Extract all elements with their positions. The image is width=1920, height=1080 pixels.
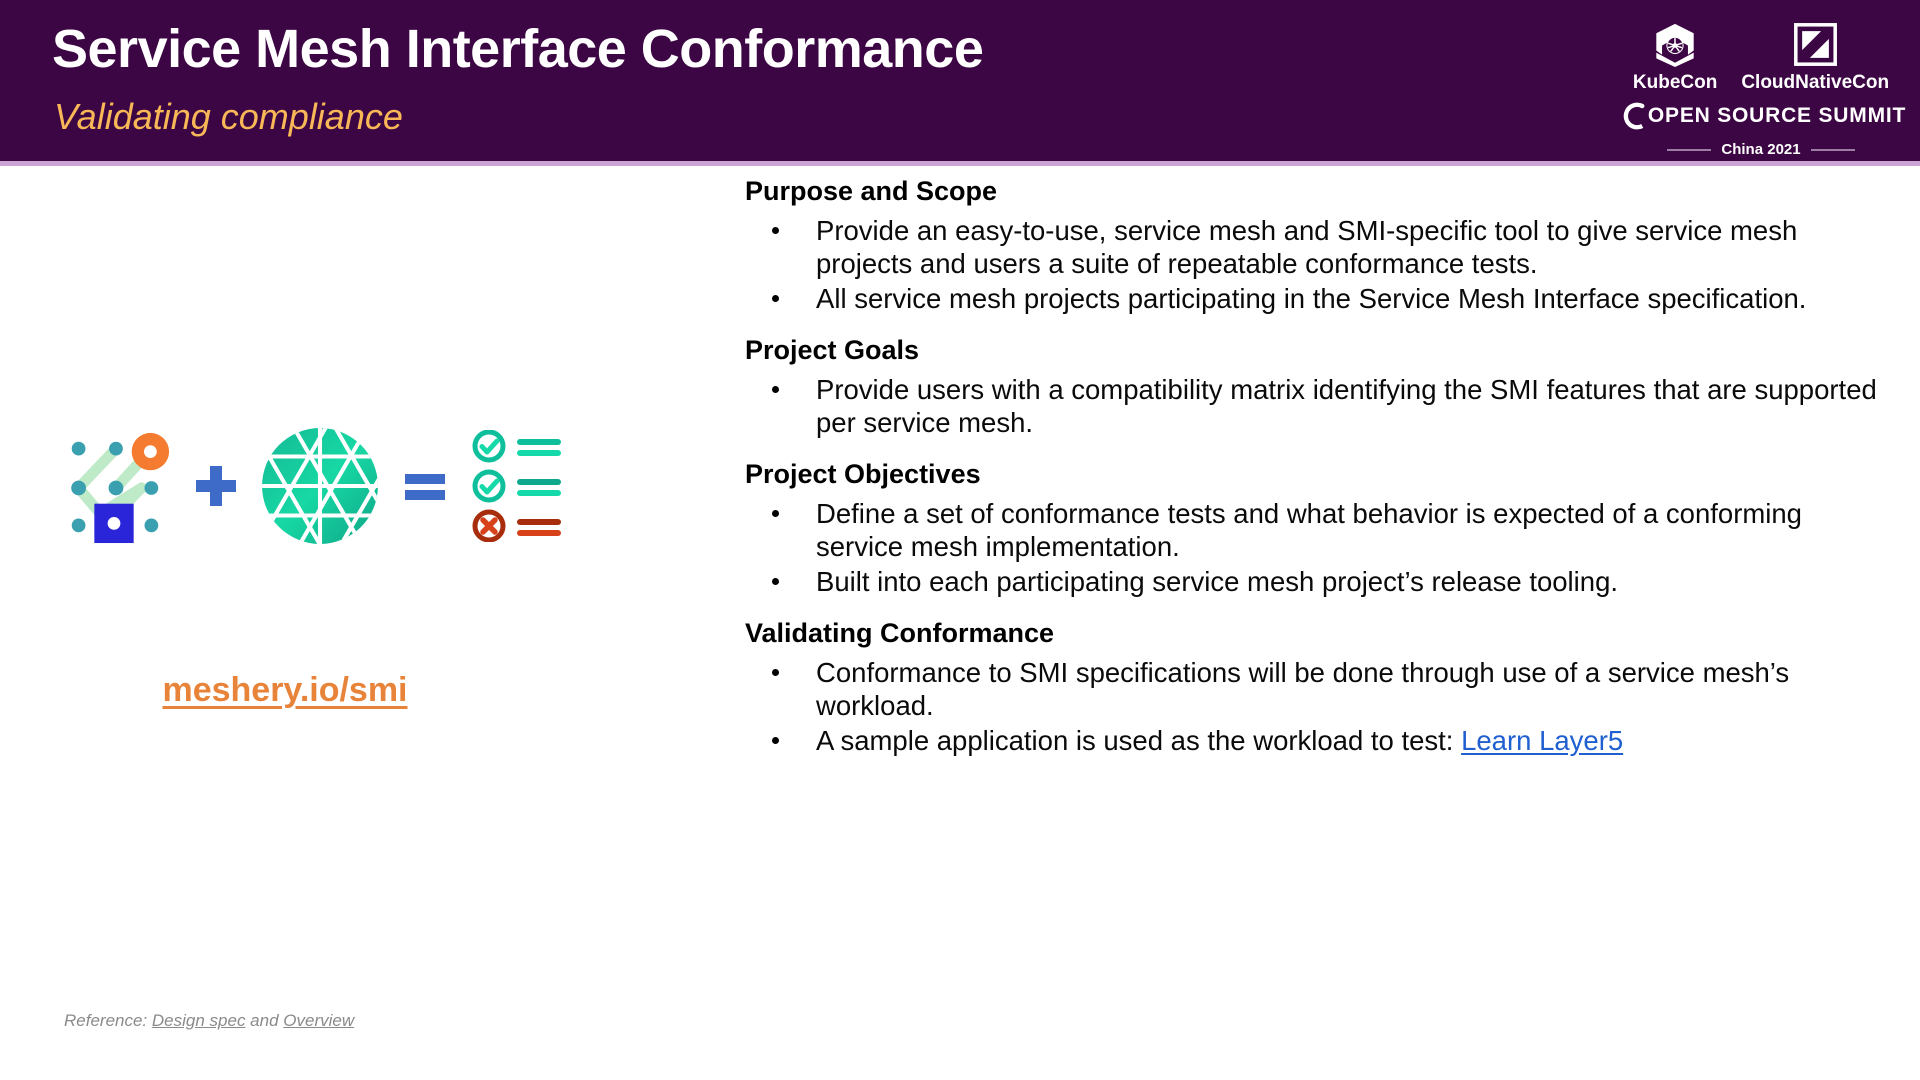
list-item-text: Conformance to SMI specifications will b… [816, 657, 1789, 721]
list-item: Built into each participating service me… [745, 565, 1885, 598]
learn-layer5-link[interactable]: Learn Layer5 [1461, 725, 1623, 756]
section-heading: Project Goals [745, 325, 1885, 367]
list-item-text: All service mesh projects participating … [816, 283, 1806, 314]
list-item: Define a set of conformance tests and wh… [745, 497, 1885, 563]
bullet-dot-icon [772, 669, 779, 676]
list-item-text: Built into each participating service me… [816, 566, 1618, 597]
content-column: Purpose and Scope Provide an easy-to-use… [745, 166, 1885, 1080]
page-title: Service Mesh Interface Conformance [52, 18, 983, 80]
section-purpose-and-scope: Purpose and Scope Provide an easy-to-use… [745, 166, 1885, 315]
list-item-text: Define a set of conformance tests and wh… [816, 498, 1802, 562]
list-item: Conformance to SMI specifications will b… [745, 656, 1885, 722]
list-item-text: Provide an easy-to-use, service mesh and… [816, 215, 1797, 279]
left-panel: meshery.io/smi Reference: Design spec an… [0, 166, 740, 1080]
slide-header: Service Mesh Interface Conformance Valid… [0, 0, 1920, 161]
cloudnativecon-label: CloudNativeCon [1741, 72, 1889, 94]
cloudnativecon-logo-block: CloudNativeCon [1729, 20, 1901, 94]
list-item: All service mesh projects participating … [745, 282, 1885, 315]
bullet-dot-icon [772, 227, 779, 234]
reference-design-spec-link[interactable]: Design spec [152, 1011, 246, 1030]
section-heading: Purpose and Scope [745, 166, 1885, 208]
bullet-dot-icon [772, 295, 779, 302]
section-heading: Validating Conformance [745, 608, 1885, 650]
list-item: A sample application is used as the work… [745, 724, 1885, 757]
reference-prefix: Reference: [64, 1011, 152, 1030]
reference-conjunction: and [245, 1011, 283, 1030]
conformance-equation-diagram [55, 406, 635, 566]
reference-overview-link[interactable]: Overview [283, 1011, 354, 1030]
bullet-list: Provide an easy-to-use, service mesh and… [745, 214, 1885, 315]
bullet-list: Define a set of conformance tests and wh… [745, 497, 1885, 598]
smi-mesh-sphere-icon [259, 425, 381, 547]
bullet-dot-icon [772, 510, 779, 517]
reference-note: Reference: Design spec and Overview [64, 1011, 354, 1031]
year-rule-left [1667, 149, 1711, 151]
event-year-label: China 2021 [1721, 141, 1800, 158]
meshery-smi-link[interactable]: meshery.io/smi [0, 671, 570, 710]
open-source-summit-label: OPEN SOURCE SUMMIT [1648, 104, 1906, 128]
bullet-dot-icon [772, 386, 779, 393]
list-item: Provide an easy-to-use, service mesh and… [745, 214, 1885, 280]
bullet-list: Provide users with a compatibility matri… [745, 373, 1885, 439]
meshery-logo-icon [55, 427, 173, 545]
kubecon-label: KubeCon [1633, 72, 1717, 94]
list-item: Provide users with a compatibility matri… [745, 373, 1885, 439]
plus-sign-icon [195, 464, 237, 508]
list-item-text: Provide users with a compatibility matri… [816, 374, 1877, 438]
section-heading: Project Objectives [745, 449, 1885, 491]
cloudnativecon-square-icon [1793, 20, 1838, 68]
bullet-dot-icon [772, 578, 779, 585]
conformance-results-icon [469, 430, 565, 542]
section-project-objectives: Project Objectives Define a set of confo… [745, 449, 1885, 598]
year-rule-right [1811, 149, 1855, 151]
equals-sign-icon [403, 464, 447, 508]
kubecon-logo-block: KubeCon [1621, 20, 1729, 94]
event-logo: KubeCon CloudNativeCon [1636, 8, 1886, 153]
page-subtitle: Validating compliance [54, 95, 403, 139]
section-validating-conformance: Validating Conformance Conformance to SM… [745, 608, 1885, 757]
bullet-dot-icon [772, 737, 779, 744]
section-project-goals: Project Goals Provide users with a compa… [745, 325, 1885, 439]
bullet-list: Conformance to SMI specifications will b… [745, 656, 1885, 757]
kubernetes-helm-icon [1652, 20, 1698, 68]
list-item-text: A sample application is used as the work… [816, 725, 1461, 756]
